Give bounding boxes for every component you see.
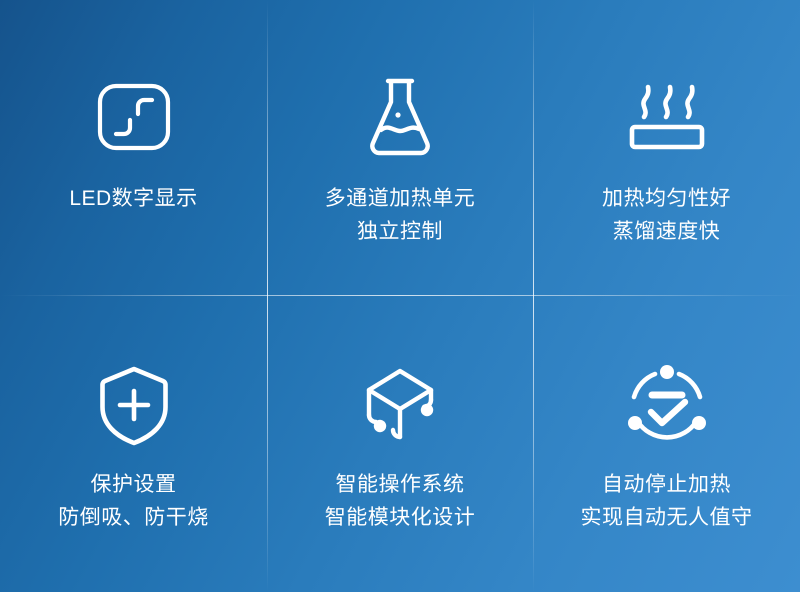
- feature-panel: LED数字显示 多通道加热单元 独立控制: [0, 0, 800, 592]
- feature-label-line: 蒸馏速度快: [602, 215, 731, 248]
- feature-cell-protection-settings[interactable]: 保护设置 防倒吸、防干烧: [0, 296, 267, 592]
- feature-label-auto-stop-heating: 自动停止加热 实现自动无人值守: [581, 468, 753, 534]
- feature-label-line: 防倒吸、防干烧: [58, 501, 209, 534]
- heating-plate-icon: [619, 70, 715, 166]
- feature-grid: LED数字显示 多通道加热单元 独立控制: [0, 0, 800, 592]
- feature-label-even-heating: 加热均匀性好 蒸馏速度快: [602, 182, 731, 248]
- feature-cell-led-display[interactable]: LED数字显示: [0, 0, 267, 296]
- shield-plus-icon: [86, 358, 182, 454]
- feature-cell-smart-os[interactable]: 智能操作系统 智能模块化设计: [267, 296, 533, 592]
- feature-cell-auto-stop-heating[interactable]: 自动停止加热 实现自动无人值守: [533, 296, 800, 592]
- feature-label-line: 智能模块化设计: [325, 501, 476, 534]
- feature-label-line: 保护设置: [58, 468, 209, 501]
- feature-cell-multi-channel-heating[interactable]: 多通道加热单元 独立控制: [267, 0, 533, 296]
- led-display-icon: [86, 70, 182, 166]
- feature-label-line: 独立控制: [325, 215, 476, 248]
- feature-label-led-display: LED数字显示: [69, 182, 197, 215]
- cube-node-icon: [352, 358, 448, 454]
- feature-label-line: 多通道加热单元: [325, 182, 476, 215]
- auto-check-circle-icon: [619, 358, 715, 454]
- feature-label-line: 智能操作系统: [325, 468, 476, 501]
- flask-icon: [352, 70, 448, 166]
- feature-label-smart-os: 智能操作系统 智能模块化设计: [325, 468, 476, 534]
- feature-label-multi-channel-heating: 多通道加热单元 独立控制: [325, 182, 476, 248]
- feature-label-line: 加热均匀性好: [602, 182, 731, 215]
- feature-label-protection-settings: 保护设置 防倒吸、防干烧: [58, 468, 209, 534]
- feature-label-line: 实现自动无人值守: [581, 501, 753, 534]
- feature-label-line: LED数字显示: [69, 182, 197, 215]
- feature-cell-even-heating[interactable]: 加热均匀性好 蒸馏速度快: [533, 0, 800, 296]
- feature-label-line: 自动停止加热: [581, 468, 753, 501]
